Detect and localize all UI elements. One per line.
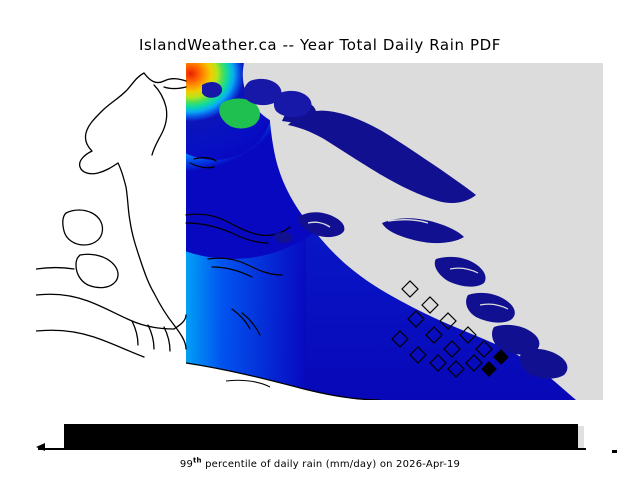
caption-text: percentile of daily rain (mm/day) on 202… [202,459,460,470]
map-plot-area[interactable] [36,63,603,400]
colorbar[interactable] [36,424,588,450]
colorbar-overflow-swatch [578,426,584,448]
caption-percentile-value: 99 [180,459,193,470]
caption-ordinal-suffix: th [193,457,202,465]
colorbar-axis-line [38,448,586,450]
page-title: IslandWeather.ca -- Year Total Daily Rai… [0,36,640,54]
weather-map-page: IslandWeather.ca -- Year Total Daily Rai… [0,0,640,480]
colorbar-gradient [64,424,578,448]
colorbar-right-tick [612,450,617,453]
colorbar-caption: 99th percentile of daily rain (mm/day) o… [0,459,640,470]
map-graphic [36,63,603,400]
